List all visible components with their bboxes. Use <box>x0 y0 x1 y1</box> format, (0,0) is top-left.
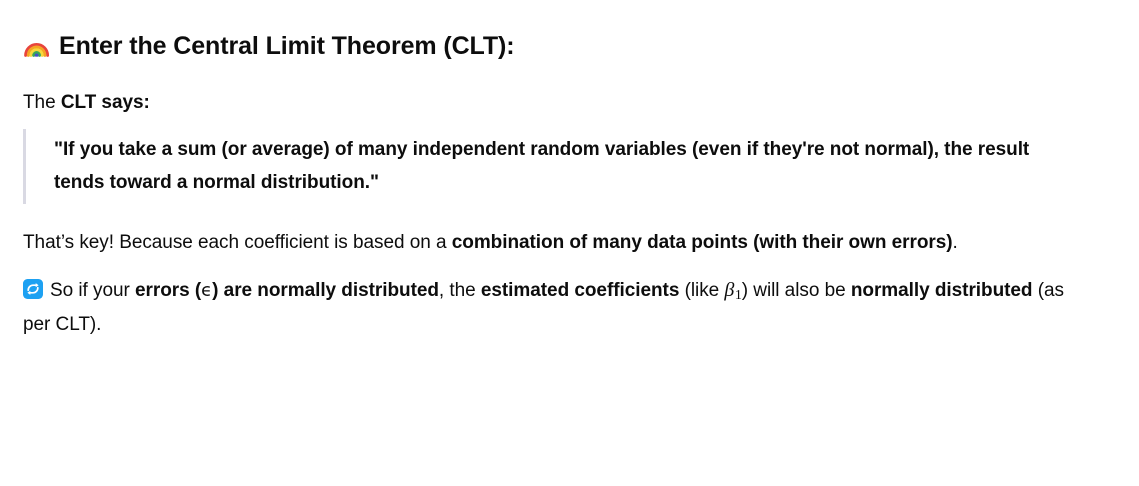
beta-symbol: β1 <box>724 279 741 301</box>
conclusion-paragraph: So if your errors (ϵ) are normally distr… <box>23 273 1088 342</box>
beta-subscript: 1 <box>735 288 742 303</box>
repeat-icon <box>23 279 43 299</box>
conclusion-part4: ) will also be <box>742 280 851 301</box>
rainbow-icon <box>23 37 50 57</box>
conclusion-part1: So if your <box>50 280 135 301</box>
conclusion-part2: , the <box>439 280 481 301</box>
key-paragraph: That’s key! Because each coefficient is … <box>23 226 1088 259</box>
intro-lead: The <box>23 92 61 113</box>
conclusion-bold1-a: errors ( <box>135 280 201 301</box>
epsilon-symbol: ϵ <box>201 280 212 301</box>
key-paragraph-part1: That’s key! Because each coefficient is … <box>23 232 452 253</box>
beta-glyph: β <box>724 279 734 301</box>
clt-blockquote: "If you take a sum (or average) of many … <box>23 129 1084 204</box>
intro-line: The CLT says: <box>23 86 1088 119</box>
intro-bold: CLT says: <box>61 92 150 113</box>
conclusion-part3: (like <box>679 280 724 301</box>
key-paragraph-part2: . <box>953 232 958 253</box>
page-title-text: Enter the Central Limit Theorem (CLT): <box>59 30 514 64</box>
content-page: Enter the Central Limit Theorem (CLT): T… <box>0 0 1139 342</box>
key-paragraph-bold: combination of many data points (with th… <box>452 232 953 253</box>
conclusion-bold2: estimated coefficients <box>481 280 679 301</box>
page-title: Enter the Central Limit Theorem (CLT): <box>23 30 1115 64</box>
conclusion-bold1-b: ) are normally distributed <box>212 280 439 301</box>
clt-blockquote-text: "If you take a sum (or average) of many … <box>54 133 1084 200</box>
conclusion-bold3: normally distributed <box>851 280 1033 301</box>
